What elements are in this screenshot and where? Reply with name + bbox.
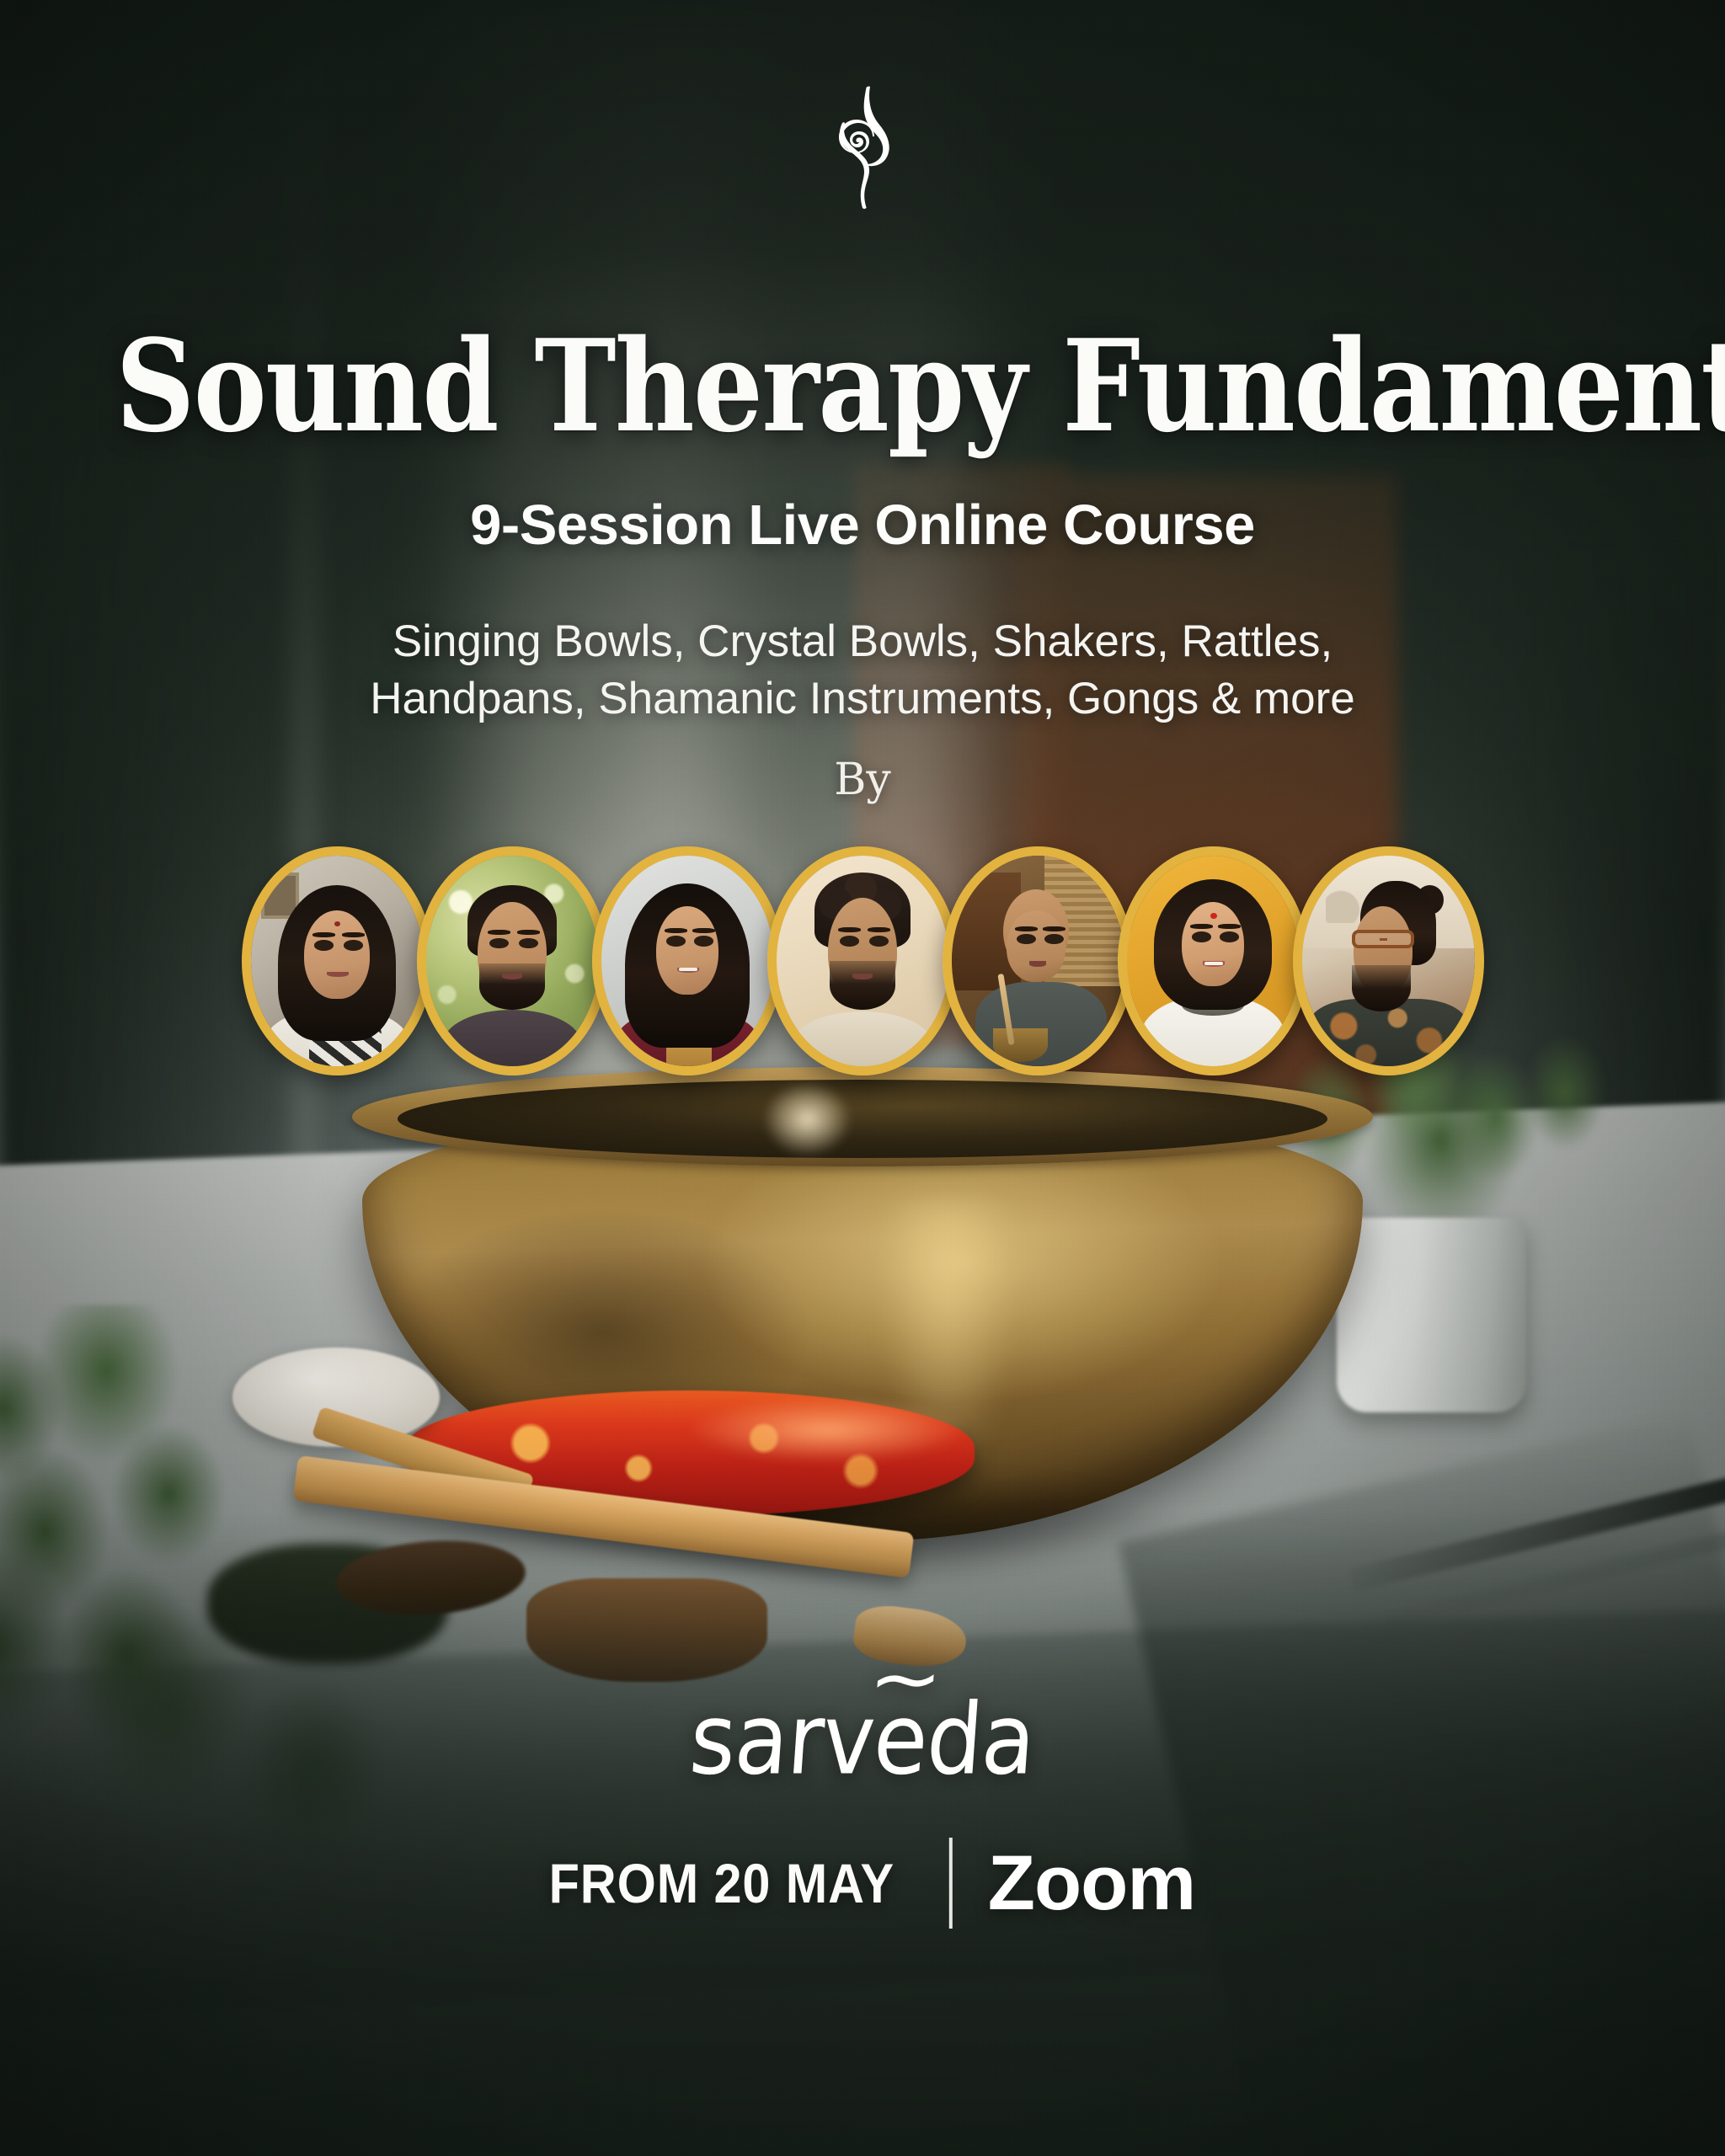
avatar[interactable] bbox=[1293, 846, 1484, 1075]
page-title-text: Sound Therapy Fundamentals bbox=[115, 323, 1725, 451]
wordmark-part-1: sarv bbox=[686, 1682, 879, 1797]
avatar[interactable] bbox=[592, 846, 783, 1075]
course-blurb-line-1: Singing Bowls, Crystal Bowls, Shakers, R… bbox=[231, 613, 1494, 670]
course-subtitle: 9-Session Live Online Course bbox=[104, 493, 1621, 558]
poster-content: Sound Therapy Fundamentals 9-Session Liv… bbox=[0, 0, 1725, 2156]
footer-divider bbox=[949, 1838, 953, 1929]
avatar[interactable] bbox=[417, 846, 608, 1075]
avatar[interactable] bbox=[943, 846, 1134, 1075]
wordmark-tilde-letter: e bbox=[870, 1682, 932, 1797]
spiral-smoke-logo-icon bbox=[812, 84, 913, 211]
avatar[interactable] bbox=[767, 846, 959, 1075]
start-date-label: FROM 20 MAY bbox=[549, 1851, 895, 1915]
byline-label: By bbox=[834, 755, 891, 805]
footer-bar: FROM 20 MAY Zoom bbox=[530, 1838, 1195, 1929]
platform-label: Zoom bbox=[988, 1839, 1195, 1928]
wordmark-part-2: da bbox=[923, 1682, 1039, 1797]
avatar[interactable] bbox=[1118, 846, 1309, 1075]
sarveda-wordmark: sarveda bbox=[691, 1688, 1035, 1790]
page-title: Sound Therapy Fundamentals bbox=[37, 327, 1688, 446]
course-blurb: Singing Bowls, Crystal Bowls, Shakers, R… bbox=[231, 613, 1494, 728]
presenter-avatar-row bbox=[0, 846, 1725, 1075]
avatar[interactable] bbox=[242, 846, 433, 1075]
poster-canvas: Sound Therapy Fundamentals 9-Session Liv… bbox=[0, 0, 1725, 2156]
course-blurb-line-2: Handpans, Shamanic Instruments, Gongs & … bbox=[231, 670, 1494, 728]
